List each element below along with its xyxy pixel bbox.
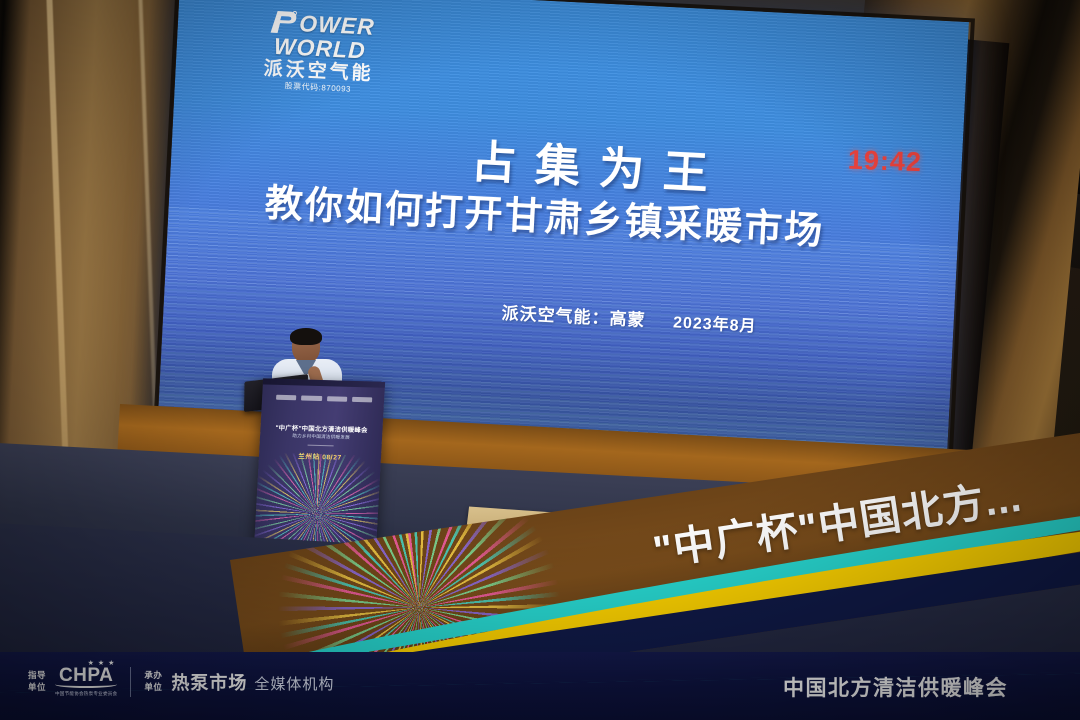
guide-unit-label-line2: 单位 <box>28 682 46 693</box>
power-world-p-logo-icon <box>267 8 298 35</box>
chpa-wordmark: CHPA ★ ★ ★ <box>59 666 113 685</box>
podium-sponsor-logo <box>352 396 373 402</box>
host-unit-label: 承办 单位 <box>144 670 162 693</box>
podium-sponsor-logo <box>327 396 348 402</box>
banner-organizations: 指导 单位 CHPA ★ ★ ★ 中国节能协会热泵专业委员会 承办 单位 热泵市… <box>28 666 334 697</box>
podium-divider <box>308 445 334 447</box>
podium-sponsor-logo <box>276 394 297 400</box>
host-unit-label-line2: 单位 <box>144 682 162 693</box>
chpa-logo: CHPA ★ ★ ★ 中国节能协会热泵专业委员会 <box>55 666 117 697</box>
host-org-name: 热泵市场 <box>171 669 247 695</box>
clock-display: 19:42 <box>847 145 922 178</box>
chpa-stars-icon: ★ ★ ★ <box>88 660 116 667</box>
chpa-arc-underline <box>55 681 117 688</box>
guide-unit-label-line1: 指导 <box>28 670 46 681</box>
host-unit-label-line1: 承办 <box>144 670 162 681</box>
host-organization: 热泵市场 全媒体机构 <box>171 669 334 695</box>
power-world-brand-lockup: OWER WORLD 派沃空气能 股票代码:870093 <box>223 6 417 97</box>
slide-date: 2023年8月 <box>673 314 757 335</box>
guide-unit-label: 指导 单位 <box>28 670 46 693</box>
event-name-label: 中国北方清洁供暖峰会 <box>783 672 1008 702</box>
banner-divider <box>130 667 131 697</box>
chpa-full-name: 中国节能协会热泵专业委员会 <box>55 691 117 697</box>
host-org-descriptor: 全媒体机构 <box>254 673 334 694</box>
bottom-info-banner: 指导 单位 CHPA ★ ★ ★ 中国节能协会热泵专业委员会 承办 单位 热泵市… <box>0 652 1080 720</box>
podium-sponsor-logo <box>301 395 322 401</box>
podium-sponsor-logo-strip <box>276 393 372 404</box>
speaker-hair <box>290 328 322 345</box>
conference-stage-photo: OWER WORLD 派沃空气能 股票代码:870093 19:42 占集为王 … <box>0 0 1080 720</box>
brand-wordmark: OWER WORLD <box>224 6 416 65</box>
